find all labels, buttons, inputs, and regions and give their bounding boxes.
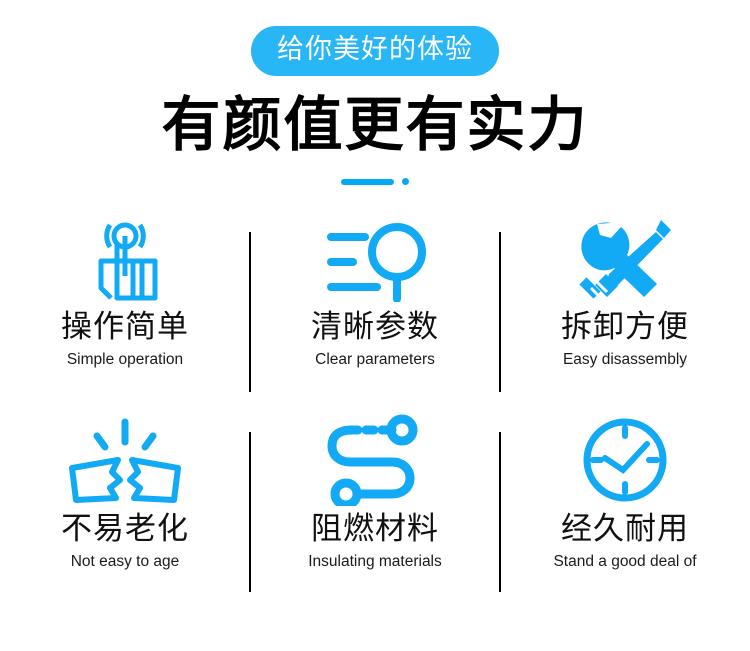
feature-title-cn: 不易老化 <box>61 512 189 546</box>
title-ornament <box>0 176 750 188</box>
divider-dot <box>402 178 409 185</box>
feature-title-en: Not easy to age <box>71 553 180 570</box>
page-title: 有颜值更有实力 <box>161 94 588 158</box>
feature-title-cn: 清晰参数 <box>311 310 439 344</box>
clock-icon <box>575 410 675 506</box>
feature-item-not-easy-to-age: 不易老化 Not easy to age <box>0 410 250 610</box>
feature-title-en: Clear parameters <box>315 351 435 368</box>
subtitle-badge: 给你美好的体验 <box>251 26 499 76</box>
magnifier-parameters-icon <box>321 210 429 302</box>
feature-title-en: Simple operation <box>67 351 183 368</box>
feature-title-cn: 拆卸方便 <box>561 310 689 344</box>
feature-banner: 给你美好的体验 有颜值更有实力 <box>0 0 750 651</box>
feature-item-insulating-materials: 阻燃材料 Insulating materials <box>250 410 500 610</box>
s-cable-icon <box>322 410 428 506</box>
feature-item-durable: 经久耐用 Stand a good deal of <box>500 410 750 610</box>
feature-item-easy-disassembly: 拆卸方便 Easy disassembly <box>500 210 750 410</box>
wrench-screwdriver-icon <box>573 210 677 302</box>
feature-title-cn: 阻燃材料 <box>311 512 439 546</box>
feature-title-cn: 经久耐用 <box>561 512 689 546</box>
divider-bar <box>341 179 394 185</box>
feature-item-simple-operation: 操作简单 Simple operation <box>0 210 250 410</box>
feature-title-cn: 操作简单 <box>61 310 189 344</box>
badge-container: 给你美好的体验 <box>0 26 750 76</box>
feature-title-en: Insulating materials <box>308 553 442 570</box>
broken-block-icon <box>66 410 184 506</box>
feature-grid: 操作简单 Simple operation 清晰参数 Clear paramet… <box>0 210 750 610</box>
feature-item-clear-parameters: 清晰参数 Clear parameters <box>250 210 500 410</box>
feature-title-en: Stand a good deal of <box>553 553 696 570</box>
touch-hand-icon <box>79 210 171 302</box>
feature-title-en: Easy disassembly <box>563 351 687 368</box>
